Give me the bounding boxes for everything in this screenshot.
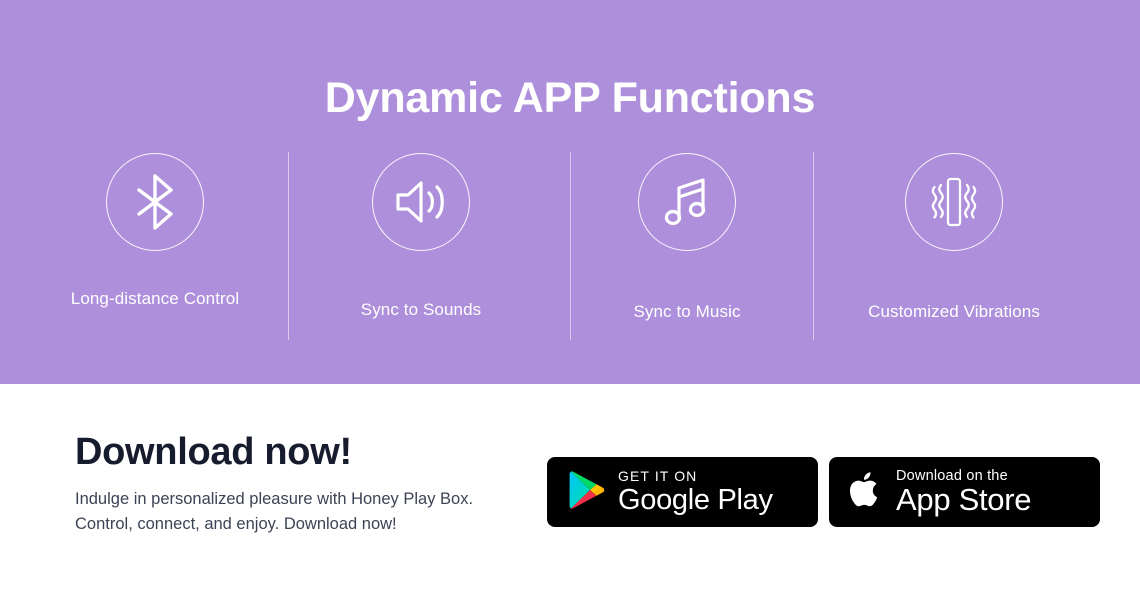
google-play-badge-small-text: GET IT ON [618, 469, 773, 483]
download-subtitle: Indulge in personalized pleasure with Ho… [75, 487, 545, 537]
feature-icon-circle [106, 153, 204, 251]
feature-item-sync-to-sounds[interactable]: Sync to Sounds [288, 140, 554, 350]
app-store-badge-small-text: Download on the [896, 469, 1031, 484]
feature-icon-circle [905, 153, 1003, 251]
app-store-badge-text: Download on the App Store [896, 469, 1031, 516]
feature-icon-circle [372, 153, 470, 251]
feature-label-line1: Long-distance [71, 289, 179, 308]
feature-label: Sync to Music [554, 301, 820, 322]
speaker-volume-icon [394, 178, 448, 226]
page-title: Dynamic APP Functions [0, 70, 1140, 126]
app-store-badge[interactable]: Download on the App Store [829, 457, 1100, 527]
feature-label-line1: Customized Vibrations [868, 302, 1040, 321]
store-badges: GET IT ON Google Play Download on the Ap… [547, 457, 1100, 527]
features-row: Long-distance Control Sync to Sounds [0, 140, 1140, 350]
download-heading: Download now! [75, 429, 545, 475]
vibration-icon [928, 175, 980, 229]
feature-label-line1: Sync to Music [633, 302, 740, 321]
feature-item-sync-to-music[interactable]: Sync to Music [554, 140, 820, 350]
feature-item-long-distance-control[interactable]: Long-distance Control [22, 140, 288, 350]
google-play-badge-text: GET IT ON Google Play [618, 469, 773, 515]
feature-label-line1: Sync to Sounds [361, 300, 481, 319]
features-panel: Dynamic APP Functions Long-distance Cont… [0, 0, 1140, 384]
apple-logo-icon [849, 469, 883, 515]
download-section: Download now! Indulge in personalized pl… [0, 384, 1140, 600]
google-play-badge[interactable]: GET IT ON Google Play [547, 457, 818, 527]
google-play-triangle-icon [569, 470, 605, 515]
bluetooth-icon [132, 174, 178, 230]
download-subtitle-line1: Indulge in personalized pleasure with Ho… [75, 487, 545, 512]
app-store-badge-big-text: App Store [896, 484, 1031, 515]
download-subtitle-line2: Control, connect, and enjoy. Download no… [75, 512, 545, 537]
feature-label: Sync to Sounds [288, 299, 554, 320]
feature-label: Long-distance Control [22, 288, 288, 309]
feature-icon-circle [638, 153, 736, 251]
feature-item-customized-vibrations[interactable]: Customized Vibrations [821, 140, 1087, 350]
feature-label-line2: Control [184, 289, 240, 308]
music-note-icon [663, 175, 711, 229]
download-copy: Download now! Indulge in personalized pl… [75, 429, 545, 537]
feature-label: Customized Vibrations [821, 301, 1087, 322]
google-play-badge-big-text: Google Play [618, 486, 773, 515]
